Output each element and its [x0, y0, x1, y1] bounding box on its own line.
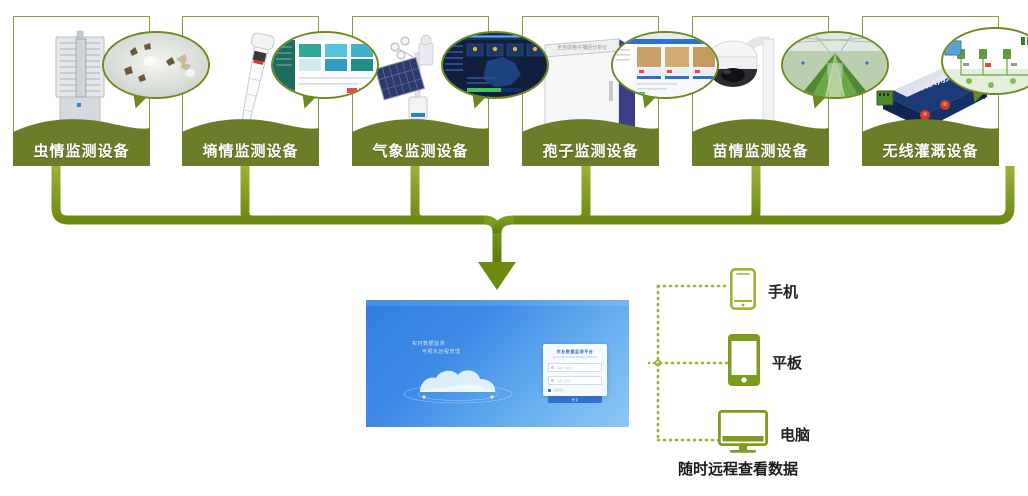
- insect-specimen-plate-photo: [102, 31, 210, 99]
- checkbox-box: [548, 389, 551, 392]
- weather-data-dashboard-screenshot: [441, 31, 549, 99]
- lock-icon: [551, 379, 554, 382]
- terminal-row-phone[interactable]: 手机: [730, 268, 798, 314]
- svg-text:全自动孢子捕捉分析仪: 全自动孢子捕捉分析仪: [557, 44, 607, 51]
- remote-access-caption: 随时远程查看数据: [678, 458, 798, 479]
- dotted-connector: [648, 268, 1028, 488]
- remember-label: 记住密码: [553, 388, 563, 392]
- username-placeholder: 请输入用户名: [557, 366, 573, 370]
- login-title: 农业数据监测平台: [548, 349, 602, 355]
- username-field[interactable]: 请输入用户名: [548, 363, 602, 372]
- terminal-devices-group: 手机 平板 电脑: [648, 268, 1028, 488]
- password-field[interactable]: 请输入密码: [548, 376, 602, 385]
- remember-password-checkbox[interactable]: 记住密码: [548, 388, 602, 392]
- irrigation-network-topology-diagram: [941, 27, 1028, 95]
- platform-login-card[interactable]: 农业数据监测平台 Agricultural Data Monitor Platf…: [543, 344, 607, 396]
- terminal-row-computer[interactable]: 电脑: [718, 410, 810, 458]
- desktop-monitor-icon: [718, 410, 768, 458]
- password-placeholder: 请输入密码: [557, 379, 570, 383]
- soil-data-dashboard-screenshot: [271, 31, 379, 99]
- user-icon: [551, 366, 554, 369]
- terminal-label-computer: 电脑: [780, 424, 810, 445]
- terminal-label-phone: 手机: [768, 281, 798, 302]
- device-card-pest-monitoring[interactable]: 虫情监测设备: [13, 16, 150, 166]
- platform-topbar: [366, 300, 629, 306]
- cloud-graphic: [402, 364, 514, 404]
- tablet-icon: [728, 334, 760, 390]
- greenhouse-crop-rows-photo: [781, 31, 889, 99]
- login-subtitle: Agricultural Data Monitor Platform: [548, 356, 602, 359]
- diagram-canvas: 虫情监测设备: [0, 0, 1028, 496]
- login-submit-button[interactable]: 登 录: [548, 396, 602, 403]
- down-arrow-head: [478, 262, 516, 290]
- platform-login-screenshot[interactable]: 实时数据监测 可视化远程管理 农业数据监测平台 Agricultural Dat…: [366, 300, 629, 427]
- spore-image-dashboard-screenshot: [611, 31, 719, 99]
- mobile-phone-icon: [730, 268, 756, 314]
- platform-slogan: 实时数据监测 可视化远程管理: [412, 340, 461, 356]
- terminal-label-tablet: 平板: [772, 352, 802, 373]
- terminal-row-tablet[interactable]: 平板: [728, 334, 802, 390]
